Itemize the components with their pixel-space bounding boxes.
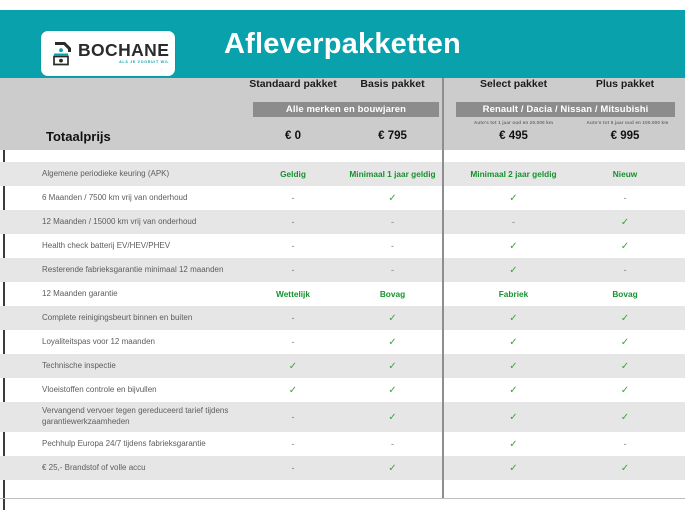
cell-basis: Bovag xyxy=(345,282,440,306)
table-row: Vloeistoffen controle en bijvullen✓✓✓✓ xyxy=(0,378,685,402)
column-title-plus: Plus pakket xyxy=(575,78,675,90)
bochane-logo: BOCHANE ALS JE VOORUIT WIL xyxy=(41,31,175,76)
row-label: Algemene periodieke keuring (APK) xyxy=(42,162,257,186)
cell-plus: ✓ xyxy=(575,306,675,330)
car-door-icon xyxy=(52,40,73,67)
cell-standaard: ✓ xyxy=(243,378,343,402)
cell-basis: - xyxy=(345,234,440,258)
cell-standaard: ✓ xyxy=(243,354,343,378)
row-label: 12 Maanden garantie xyxy=(42,282,257,306)
table-top-spacer xyxy=(0,150,685,162)
cell-plus: Bovag xyxy=(575,282,675,306)
cell-basis: ✓ xyxy=(345,330,440,354)
row-label: Vervangend vervoer tegen gereduceerd tar… xyxy=(42,402,257,432)
cell-select: ✓ xyxy=(456,258,571,282)
row-label: Complete reinigingsbeurt binnen en buite… xyxy=(42,306,257,330)
cell-select: ✓ xyxy=(456,234,571,258)
cell-basis: ✓ xyxy=(345,186,440,210)
afleverpakketten-page: Afleverpakketten BOCHANE ALS JE VOORUIT … xyxy=(0,0,685,514)
cell-standaard: - xyxy=(243,432,343,456)
cell-basis: ✓ xyxy=(345,306,440,330)
badge-renault-group: Renault / Dacia / Nissan / Mitsubishi xyxy=(456,102,675,117)
total-price-row: Totaalprijs € 0 € 795 € 495 € 995 xyxy=(0,125,685,150)
page-header: Afleverpakketten BOCHANE ALS JE VOORUIT … xyxy=(0,10,685,78)
table-row: 6 Maanden / 7500 km vrij van onderhoud-✓… xyxy=(0,186,685,210)
cell-select: ✓ xyxy=(456,402,571,432)
cell-plus: - xyxy=(575,432,675,456)
cell-select: ✓ xyxy=(456,354,571,378)
row-label: 6 Maanden / 7500 km vrij van onderhoud xyxy=(42,186,257,210)
table-row: Technische inspectie✓✓✓✓ xyxy=(0,354,685,378)
row-label: Health check batterij EV/HEV/PHEV xyxy=(42,234,257,258)
row-label: € 25,- Brandstof of volle accu xyxy=(42,456,257,480)
cell-standaard: - xyxy=(243,402,343,432)
column-title-select: Select pakket xyxy=(456,78,571,90)
table-row: Resterende fabrieksgarantie minimaal 12 … xyxy=(0,258,685,282)
cell-standaard: - xyxy=(243,330,343,354)
cell-plus: ✓ xyxy=(575,210,675,234)
column-title-basis: Basis pakket xyxy=(345,78,440,90)
cell-select: ✓ xyxy=(456,432,571,456)
cell-select: ✓ xyxy=(456,378,571,402)
cell-standaard: - xyxy=(243,210,343,234)
row-label: Technische inspectie xyxy=(42,354,257,378)
price-plus: € 995 xyxy=(575,130,675,142)
table-row: Vervangend vervoer tegen gereduceerd tar… xyxy=(0,402,685,432)
cell-basis: ✓ xyxy=(345,378,440,402)
table-row: 12 Maanden / 15000 km vrij van onderhoud… xyxy=(0,210,685,234)
row-label: Resterende fabrieksgarantie minimaal 12 … xyxy=(42,258,257,282)
table-row: Algemene periodieke keuring (APK)GeldigM… xyxy=(0,162,685,186)
table-row: 12 Maanden garantieWettelijkBovagFabriek… xyxy=(0,282,685,306)
cell-plus: ✓ xyxy=(575,330,675,354)
table-row: Complete reinigingsbeurt binnen en buite… xyxy=(0,306,685,330)
cell-basis: - xyxy=(345,258,440,282)
cell-basis: - xyxy=(345,432,440,456)
cell-select: - xyxy=(456,210,571,234)
cell-plus: - xyxy=(575,258,675,282)
price-select: € 495 xyxy=(456,130,571,142)
logo-tagline: ALS JE VOORUIT WIL xyxy=(78,61,169,65)
row-label: Loyaliteitspas voor 12 maanden xyxy=(42,330,257,354)
cell-standaard: - xyxy=(243,186,343,210)
total-price-label: Totaalprijs xyxy=(46,129,111,144)
cell-basis: Minimaal 1 jaar geldig xyxy=(345,162,440,186)
logo-wordmark: BOCHANE xyxy=(78,42,169,60)
cell-select: ✓ xyxy=(456,306,571,330)
cell-select: ✓ xyxy=(456,456,571,480)
price-standaard: € 0 xyxy=(243,130,343,142)
cell-basis: - xyxy=(345,210,440,234)
row-label: Pechhulp Europa 24/7 tijdens fabrieksgar… xyxy=(42,432,257,456)
cell-plus: ✓ xyxy=(575,402,675,432)
table-row: Loyaliteitspas voor 12 maanden-✓✓✓ xyxy=(0,330,685,354)
cell-basis: ✓ xyxy=(345,456,440,480)
table-row: Pechhulp Europa 24/7 tijdens fabrieksgar… xyxy=(0,432,685,456)
cell-select: Fabriek xyxy=(456,282,571,306)
cell-select: ✓ xyxy=(456,330,571,354)
cell-plus: ✓ xyxy=(575,234,675,258)
cell-plus: Nieuw xyxy=(575,162,675,186)
cell-standaard: Geldig xyxy=(243,162,343,186)
badge-alle-merken: Alle merken en bouwjaren xyxy=(253,102,439,117)
column-title-standaard: Standaard pakket xyxy=(243,78,343,90)
cell-standaard: - xyxy=(243,306,343,330)
price-basis: € 795 xyxy=(345,130,440,142)
table-bottom-spacer xyxy=(0,480,685,510)
cell-plus: - xyxy=(575,186,675,210)
cell-select: ✓ xyxy=(456,186,571,210)
cell-plus: ✓ xyxy=(575,354,675,378)
table-row: Health check batterij EV/HEV/PHEV--✓✓ xyxy=(0,234,685,258)
cell-standaard: - xyxy=(243,234,343,258)
group-divider xyxy=(442,78,444,498)
cell-basis: ✓ xyxy=(345,354,440,378)
cell-plus: ✓ xyxy=(575,456,675,480)
table-bottom-border xyxy=(0,498,685,499)
row-label: Vloeistoffen controle en bijvullen xyxy=(42,378,257,402)
cell-standaard: - xyxy=(243,258,343,282)
features-table: Algemene periodieke keuring (APK)GeldigM… xyxy=(0,150,685,498)
cell-standaard: - xyxy=(243,456,343,480)
cell-plus: ✓ xyxy=(575,378,675,402)
row-label: 12 Maanden / 15000 km vrij van onderhoud xyxy=(42,210,257,234)
cell-standaard: Wettelijk xyxy=(243,282,343,306)
cell-select: Minimaal 2 jaar geldig xyxy=(456,162,571,186)
table-row: € 25,- Brandstof of volle accu-✓✓✓ xyxy=(0,456,685,480)
cell-basis: ✓ xyxy=(345,402,440,432)
